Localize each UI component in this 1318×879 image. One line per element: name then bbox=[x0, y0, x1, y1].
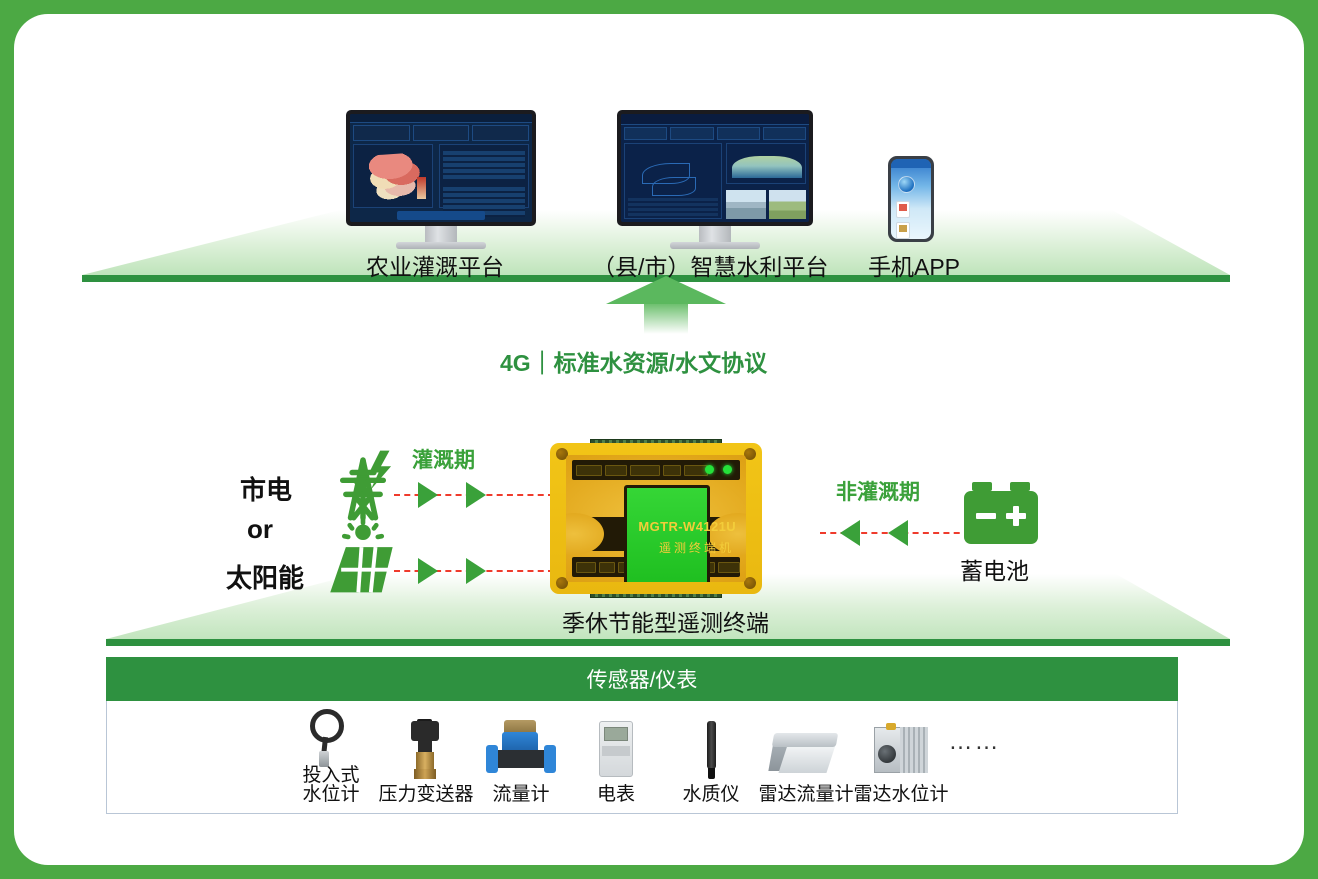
sensor-label: 压力变送器 bbox=[379, 785, 474, 805]
slab-edge-bar bbox=[106, 639, 1230, 646]
rtu-caption: 季休节能型遥测终端 bbox=[562, 604, 769, 638]
dashboard-topbar bbox=[350, 114, 532, 123]
status-led-icon bbox=[705, 465, 714, 474]
mains-power-label: 市电 bbox=[240, 470, 292, 507]
arrow-head bbox=[606, 276, 726, 304]
rtu-faceplate: MGTR-W4121U 遥测终端机 bbox=[566, 455, 746, 582]
solar-power-label: 太阳能 bbox=[226, 558, 304, 595]
arrow-stem bbox=[644, 304, 688, 334]
chart-area-series bbox=[732, 156, 802, 178]
monitor-screen bbox=[621, 114, 809, 222]
summary-card bbox=[717, 127, 760, 140]
rtu-device: MGTR-W4121U 遥测终端机 bbox=[550, 437, 762, 600]
battery-plus-sign-vertical bbox=[1013, 506, 1019, 526]
flow-arrow-icon bbox=[466, 482, 486, 508]
pressure-transmitter-icon bbox=[381, 719, 471, 781]
sensor-item-electric-meter[interactable]: 电表 bbox=[569, 707, 664, 805]
battery-terminal bbox=[1010, 482, 1030, 491]
terminal-port bbox=[630, 465, 660, 476]
battery-minus-sign bbox=[976, 513, 996, 519]
sensor-label: 电表 bbox=[597, 785, 635, 805]
terminal-port bbox=[576, 562, 596, 573]
agri-platform-monitor bbox=[346, 110, 536, 238]
terminal-port bbox=[576, 465, 602, 476]
region-map bbox=[367, 152, 422, 200]
globe-icon bbox=[898, 176, 915, 193]
diagram-frame: 农业灌溉平台 bbox=[14, 14, 1304, 865]
protocol-label: 4G｜标准水资源/水文协议 bbox=[500, 344, 767, 378]
or-label: or bbox=[247, 514, 273, 545]
flow-meter-icon bbox=[476, 719, 566, 781]
summary-card bbox=[670, 127, 713, 140]
sensor-label: 流量计 bbox=[492, 785, 549, 805]
solar-panel-icon bbox=[320, 519, 406, 597]
rtu-shell: MGTR-W4121U 遥测终端机 bbox=[550, 443, 762, 594]
dashboard-map-panel bbox=[353, 144, 433, 208]
summary-card bbox=[624, 127, 667, 140]
map-legend bbox=[417, 177, 426, 199]
rtu-model-label: MGTR-W4121U bbox=[638, 519, 736, 534]
app-tile[interactable] bbox=[896, 201, 910, 218]
flow-arrow-icon bbox=[466, 558, 486, 584]
sensor-label: 水质仪 bbox=[682, 785, 739, 805]
radar-level-gauge-icon bbox=[856, 719, 946, 781]
kpi-card bbox=[353, 125, 410, 141]
app-tile[interactable] bbox=[896, 222, 910, 239]
flow-arrow-icon bbox=[840, 520, 860, 546]
radar-flow-meter-icon bbox=[761, 719, 851, 781]
sensor-panel-header: 传感器/仪表 bbox=[106, 657, 1178, 701]
battery-icon bbox=[964, 482, 1038, 544]
phone-body bbox=[888, 156, 934, 242]
electric-meter-icon bbox=[571, 719, 661, 781]
dashboard-table-panel bbox=[439, 144, 529, 208]
rtu-model-sublabel: 遥测终端机 bbox=[659, 539, 734, 556]
summary-card bbox=[763, 127, 806, 140]
monitor-screen bbox=[350, 114, 532, 222]
water-platform-monitor bbox=[617, 110, 813, 238]
flow-arrow-icon bbox=[888, 520, 908, 546]
mobile-app-label: 手机APP bbox=[868, 248, 960, 282]
uplink-arrow-icon bbox=[606, 276, 726, 334]
battery-label: 蓄电池 bbox=[960, 552, 1029, 586]
sensor-item-level-gauge-immersed[interactable]: 投入式 水位计 bbox=[284, 707, 379, 805]
dashboard-footer-bar bbox=[397, 211, 484, 220]
camera-preview-row bbox=[726, 190, 806, 219]
battery-terminal bbox=[972, 482, 992, 491]
river-line bbox=[652, 177, 696, 196]
terminal-port bbox=[599, 562, 615, 573]
sensor-item-pressure-transmitter[interactable]: 压力变送器 bbox=[379, 707, 474, 805]
kpi-card bbox=[413, 125, 470, 141]
phone-screen bbox=[891, 159, 931, 239]
sensor-label: 雷达水位计 bbox=[854, 785, 949, 805]
trend-chart bbox=[726, 143, 806, 184]
sensor-panel: 传感器/仪表 投入式 水位计 压力变送器 流量计 bbox=[106, 657, 1178, 814]
top-terminal-strip bbox=[572, 460, 740, 480]
sensor-item-water-quality-meter[interactable]: 水质仪 bbox=[664, 707, 759, 805]
camera-photo bbox=[726, 190, 766, 219]
table-block bbox=[443, 151, 525, 181]
terminal-port bbox=[605, 465, 627, 476]
sensor-item-radar-level-gauge[interactable]: 雷达水位计 bbox=[854, 707, 949, 805]
river-network-map bbox=[624, 143, 722, 219]
irrigation-period-label: 灌溉期 bbox=[412, 444, 475, 474]
monitor-bezel bbox=[346, 110, 536, 226]
monitor-bezel bbox=[617, 110, 813, 226]
camera-photo bbox=[769, 190, 806, 219]
non-irrigation-period-label: 非灌溉期 bbox=[836, 476, 920, 506]
diagram-canvas: 农业灌溉平台 bbox=[14, 14, 1304, 865]
sensor-item-flow-meter[interactable]: 流量计 bbox=[474, 707, 569, 805]
dashboard-topbar bbox=[621, 114, 809, 125]
flow-arrow-icon bbox=[418, 558, 438, 584]
sensor-list: 投入式 水位计 压力变送器 流量计 电表 bbox=[106, 701, 1178, 814]
status-led-icon bbox=[723, 465, 732, 474]
water-quality-probe-icon bbox=[666, 719, 756, 781]
flow-arrow-icon bbox=[418, 482, 438, 508]
terminal-port bbox=[663, 465, 681, 476]
agri-platform-label: 农业灌溉平台 bbox=[366, 248, 504, 282]
sensor-label: 雷达流量计 bbox=[759, 785, 854, 805]
terminal-port bbox=[718, 562, 740, 573]
phone-app-grid bbox=[896, 201, 926, 239]
mobile-phone bbox=[888, 156, 934, 242]
more-sensors-label: …… bbox=[949, 728, 1001, 784]
map-table bbox=[628, 198, 718, 216]
immersed-level-gauge-icon bbox=[286, 707, 376, 762]
sensor-label: 投入式 水位计 bbox=[302, 766, 359, 806]
kpi-card bbox=[472, 125, 529, 141]
dashboard-kpi-row bbox=[353, 125, 529, 141]
sensor-item-radar-flow-meter[interactable]: 雷达流量计 bbox=[759, 707, 854, 805]
power-tower-icon bbox=[324, 446, 402, 524]
dashboard-card-row bbox=[624, 127, 806, 140]
phone-status-bar bbox=[891, 159, 931, 168]
